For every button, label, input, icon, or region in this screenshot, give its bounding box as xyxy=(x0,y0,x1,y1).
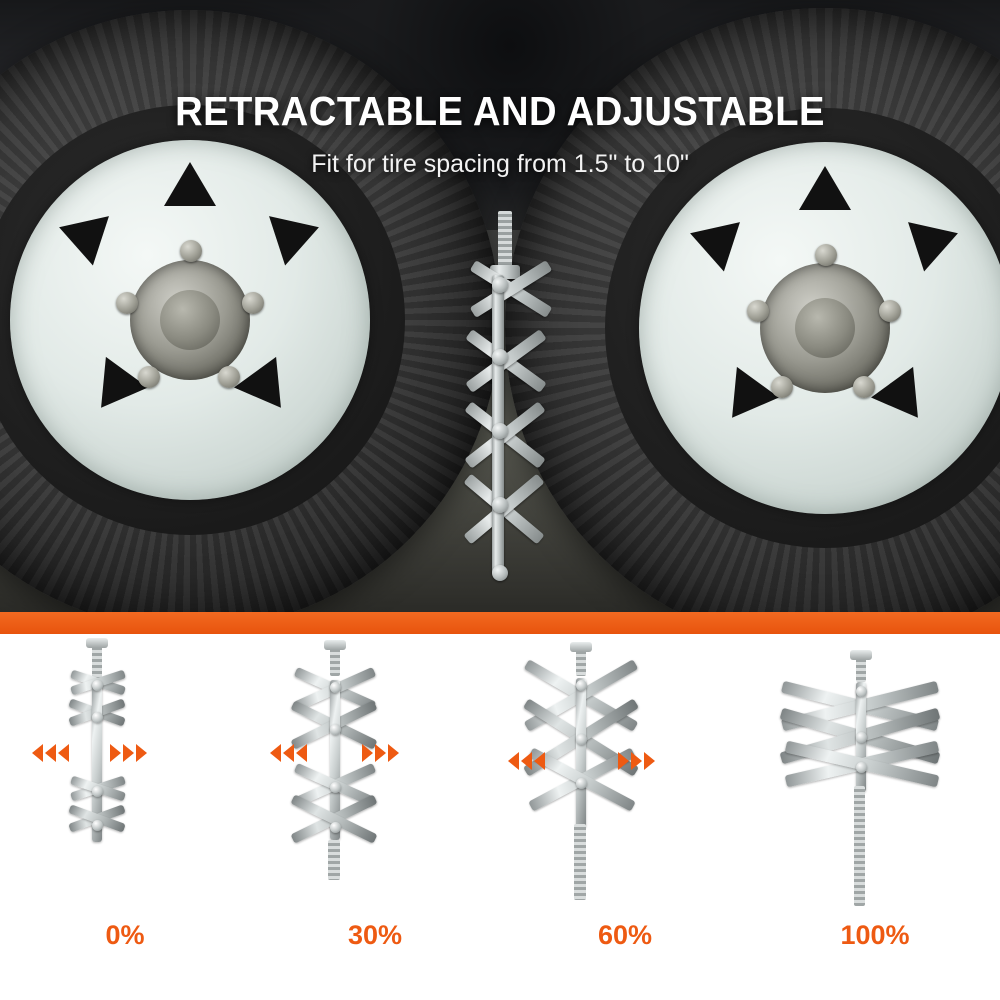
lug-nut xyxy=(771,376,793,398)
lug-nut xyxy=(218,366,240,388)
pivot-pin xyxy=(92,680,103,691)
screw-head xyxy=(324,640,346,650)
stage-label: 0% xyxy=(0,920,250,951)
expansion-stages-list: 0% xyxy=(0,634,1000,1000)
arrow-left-icon xyxy=(534,752,545,770)
drive-screw xyxy=(92,644,102,678)
arrow-right-icon xyxy=(123,744,134,762)
lug-nut xyxy=(815,244,837,266)
rim-slot xyxy=(80,357,148,423)
expansion-arrows-right xyxy=(110,744,147,762)
expansion-arrows-right xyxy=(618,752,655,770)
lug-nut xyxy=(853,376,875,398)
rim-slot xyxy=(871,367,939,433)
right-wheel-rim xyxy=(639,142,1000,514)
chock-pivot-pin xyxy=(492,423,508,439)
pivot-pin xyxy=(330,822,341,833)
arrow-left-icon xyxy=(270,744,281,762)
arrow-right-icon xyxy=(375,744,386,762)
drive-screw xyxy=(576,648,586,676)
screw-head xyxy=(570,642,592,652)
lug-nut xyxy=(747,300,769,322)
rim-slot xyxy=(908,208,966,271)
pivot-pin xyxy=(856,686,867,697)
pivot-pin xyxy=(330,724,341,735)
chock-illustration-30 xyxy=(250,634,500,909)
lug-nut xyxy=(180,240,202,262)
arrow-right-icon xyxy=(644,752,655,770)
pivot-pin xyxy=(92,712,103,723)
chock-illustration-100 xyxy=(750,634,1000,909)
bottom-screw xyxy=(854,786,865,906)
screw-head xyxy=(850,650,872,660)
subheadline: Fit for tire spacing from 1.5" to 10" xyxy=(0,150,1000,179)
arrow-right-icon xyxy=(618,752,629,770)
arrow-left-icon xyxy=(58,744,69,762)
arrow-left-icon xyxy=(508,752,519,770)
expansion-stage-60: 60% xyxy=(500,634,750,1000)
headline: RETRACTABLE AND ADJUSTABLE xyxy=(35,88,965,135)
arrow-left-icon xyxy=(521,752,532,770)
arrow-right-icon xyxy=(388,744,399,762)
expansion-arrows-left xyxy=(270,744,307,762)
stage-label: 60% xyxy=(500,920,750,951)
right-wheel-hub xyxy=(760,263,890,393)
pivot-pin xyxy=(92,786,103,797)
pivot-pin xyxy=(856,732,867,743)
chock-pivot-pin xyxy=(492,349,508,365)
expansion-stage-0: 0% xyxy=(0,634,250,1000)
arrow-right-icon xyxy=(136,744,147,762)
expansion-arrows-left xyxy=(32,744,69,762)
arrow-right-icon xyxy=(362,744,373,762)
pivot-pin xyxy=(576,734,587,745)
hero-photo: RETRACTABLE AND ADJUSTABLE Fit for tire … xyxy=(0,0,1000,618)
left-wheel-rim xyxy=(10,140,370,500)
product-image: RETRACTABLE AND ADJUSTABLE Fit for tire … xyxy=(0,0,1000,1000)
stage-label: 100% xyxy=(750,920,1000,951)
expansion-stages-panel: 0% xyxy=(0,634,1000,1000)
stage-label: 30% xyxy=(250,920,500,951)
left-hub-cap xyxy=(160,290,220,350)
chock-illustration-60 xyxy=(500,634,750,909)
arrow-right-icon xyxy=(110,744,121,762)
arrow-left-icon xyxy=(296,744,307,762)
pivot-pin xyxy=(330,682,341,693)
left-wheel-hub xyxy=(130,260,250,380)
bottom-screw xyxy=(328,840,340,880)
lug-nut xyxy=(879,300,901,322)
orange-divider xyxy=(0,612,1000,634)
expansion-arrows-left xyxy=(508,752,545,770)
rim-slot xyxy=(51,202,109,265)
rim-slot xyxy=(682,208,740,271)
screw-head xyxy=(86,638,108,648)
chock-pivot-pin xyxy=(492,497,508,513)
rim-slot xyxy=(711,367,779,433)
right-hub-cap xyxy=(795,298,855,358)
pivot-pin xyxy=(92,820,103,831)
pivot-pin xyxy=(856,762,867,773)
lug-nut xyxy=(242,292,264,314)
arrow-right-icon xyxy=(631,752,642,770)
chock-illustration-0 xyxy=(0,634,250,909)
drive-screw xyxy=(330,646,340,676)
pivot-pin xyxy=(576,778,587,789)
expansion-arrows-right xyxy=(362,744,399,762)
lug-nut xyxy=(138,366,160,388)
center-shaft xyxy=(576,678,586,828)
pivot-pin xyxy=(576,680,587,691)
bottom-screw xyxy=(574,824,586,900)
pivot-pin xyxy=(330,782,341,793)
rim-slot xyxy=(269,202,327,265)
chock-pivot-pin xyxy=(492,277,508,293)
rim-slot xyxy=(234,357,302,423)
expansion-stage-100: 100% xyxy=(750,634,1000,1000)
chock-pivot-pin xyxy=(492,565,508,581)
installed-wheel-chock xyxy=(430,215,580,615)
arrow-left-icon xyxy=(45,744,56,762)
chock-drive-screw xyxy=(498,211,512,271)
arrow-left-icon xyxy=(283,744,294,762)
expansion-stage-30: 30% xyxy=(250,634,500,1000)
lug-nut xyxy=(116,292,138,314)
arrow-left-icon xyxy=(32,744,43,762)
